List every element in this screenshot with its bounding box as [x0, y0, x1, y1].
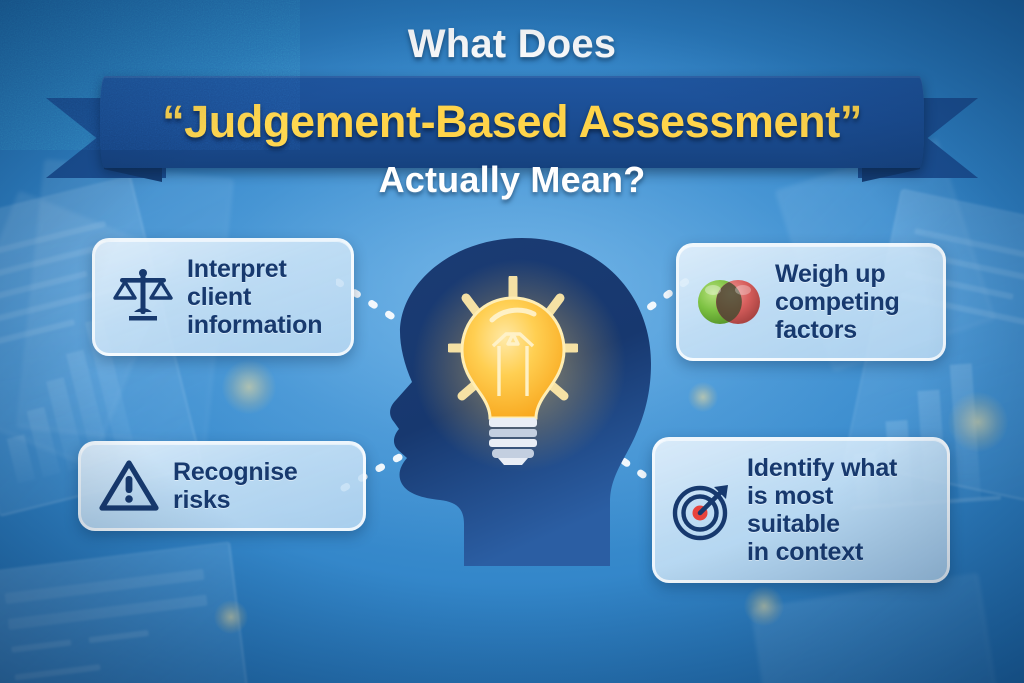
card-label-line: in context: [747, 538, 930, 566]
card-label-line: factors: [775, 316, 900, 344]
card-label-line: risks: [173, 486, 298, 514]
card-label: Recognise risks: [173, 458, 298, 514]
card-label: Interpret client information: [187, 255, 322, 339]
card-label-line: is most suitable: [747, 482, 930, 538]
card-label: Identify what is most suitable in contex…: [747, 454, 930, 566]
card-label-line: information: [187, 311, 322, 339]
title-line-bottom: Actually Mean?: [0, 159, 1024, 201]
banner-title: “Judgement-Based Assessment”: [100, 76, 924, 168]
title-line-top: What Does: [0, 22, 1024, 67]
card-label-line: client: [187, 283, 322, 311]
card-identify-what-is-most-suitable-in-context[interactable]: Identify what is most suitable in contex…: [652, 437, 950, 583]
bg-certificate-bottom-left: [0, 541, 248, 683]
card-label-line: Recognise: [173, 458, 298, 486]
card-label-line: Weigh up: [775, 260, 900, 288]
infographic-canvas: What Does “Judgement-Based Assessment” A…: [0, 0, 1024, 683]
target-arrow-icon: [672, 479, 734, 541]
title-block: What Does “Judgement-Based Assessment” A…: [0, 0, 1024, 215]
card-recognise-risks[interactable]: Recognise risks: [78, 441, 366, 531]
venn-diagram-icon: [696, 277, 762, 327]
lightbulb-icon: [448, 276, 578, 466]
bokeh-light-5: [688, 382, 718, 412]
card-interpret-client-information[interactable]: Interpret client information: [92, 238, 354, 356]
central-figure: [352, 236, 672, 566]
card-label-line: competing: [775, 288, 900, 316]
card-weigh-up-competing-factors[interactable]: Weigh up competing factors: [676, 243, 946, 361]
bokeh-light-1: [222, 360, 276, 414]
ribbon-band: “Judgement-Based Assessment”: [100, 76, 924, 168]
balance-scales-icon: [112, 266, 174, 328]
bg-document-bottom-right: [750, 573, 999, 683]
warning-triangle-icon: [98, 458, 160, 514]
card-label-line: Identify what: [747, 454, 930, 482]
card-label-line: Interpret: [187, 255, 322, 283]
card-label: Weigh up competing factors: [775, 260, 900, 344]
